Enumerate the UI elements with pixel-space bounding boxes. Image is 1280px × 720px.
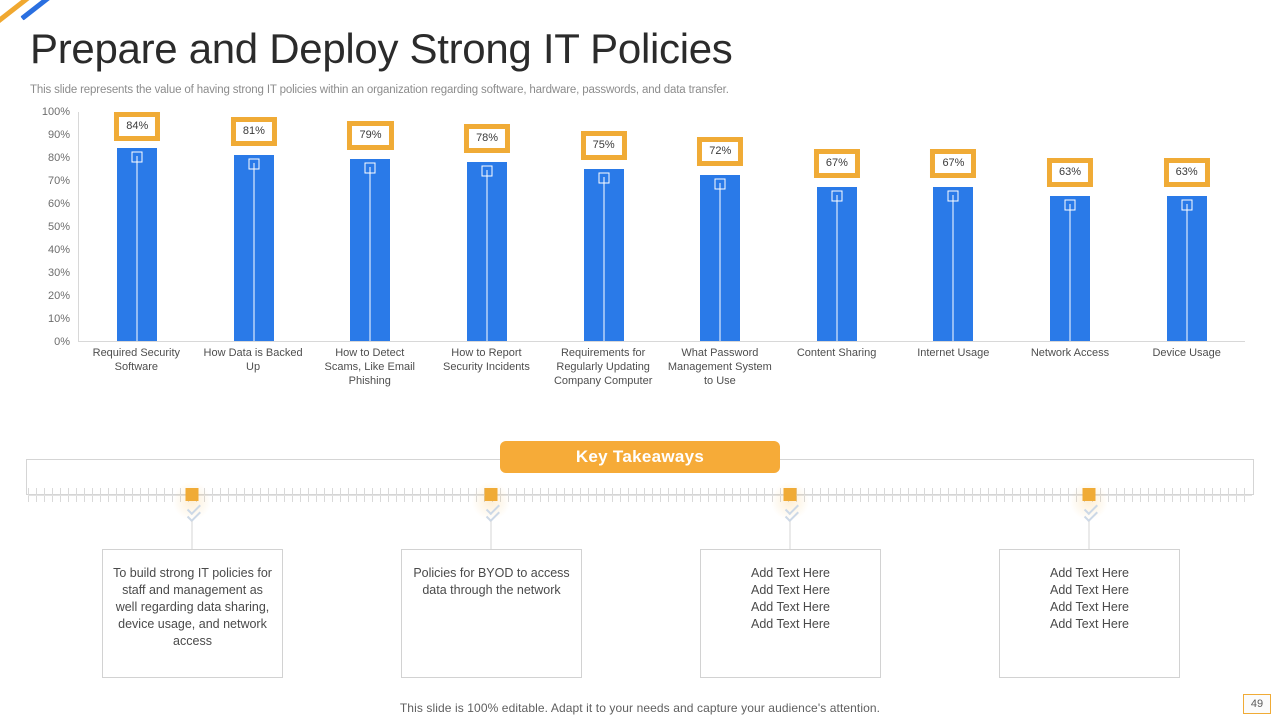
- chevron-down-icon: [179, 500, 205, 522]
- timeline-ruler: [28, 486, 1252, 504]
- y-axis-tick: 80%: [26, 152, 70, 164]
- footer-note: This slide is 100% editable. Adapt it to…: [0, 701, 1280, 715]
- chevron-down-icon: [1076, 500, 1102, 522]
- page-number-badge: 49: [1243, 694, 1271, 714]
- chart-bar-group: 79%: [312, 112, 429, 341]
- timeline-connector-line: [790, 521, 791, 549]
- page-title: Prepare and Deploy Strong IT Policies: [30, 24, 733, 74]
- takeaway-text-box-4[interactable]: Add Text Here Add Text Here Add Text Her…: [999, 549, 1180, 678]
- chart-bars: 84%81%79%78%75%72%67%67%63%63%: [79, 112, 1245, 341]
- bar-leader-line: [836, 195, 837, 341]
- page-subtitle: This slide represents the value of havin…: [30, 84, 729, 96]
- y-axis-tick: 20%: [26, 290, 70, 302]
- bar-value-marker: [715, 179, 726, 190]
- chart-bar-group: 63%: [1012, 112, 1129, 341]
- bar-data-label: 72%: [697, 137, 743, 166]
- x-axis-label: How to Detect Scams, Like Email Phishing: [311, 346, 428, 388]
- y-axis-tick: 0%: [26, 336, 70, 348]
- takeaway-text-box-1[interactable]: To build strong IT policies for staff an…: [102, 549, 283, 678]
- y-axis-tick: 70%: [26, 175, 70, 187]
- chevron-down-icon: [777, 500, 803, 522]
- chart-bar-group: 84%: [79, 112, 196, 341]
- ruler-baseline: [28, 495, 1252, 496]
- bar-leader-line: [953, 195, 954, 341]
- chart-bar-group: 78%: [429, 112, 546, 341]
- takeaway-text: To build strong IT policies for staff an…: [113, 565, 273, 650]
- slide-canvas: Prepare and Deploy Strong IT Policies Th…: [0, 0, 1280, 720]
- chevron-down-icon: [478, 500, 504, 522]
- chart-x-axis-labels: Required Security SoftwareHow Data is Ba…: [78, 346, 1245, 388]
- bar-value-marker: [831, 190, 842, 201]
- bar-data-label: 67%: [930, 149, 976, 178]
- x-axis-label: Device Usage: [1128, 346, 1245, 388]
- bar-data-label: 84%: [114, 112, 160, 141]
- timeline-connector-line: [1089, 521, 1090, 549]
- bar-data-label: 75%: [581, 131, 627, 160]
- x-axis-label: Internet Usage: [895, 346, 1012, 388]
- bar-leader-line: [1186, 204, 1187, 341]
- bar-value-marker: [482, 165, 493, 176]
- x-axis-label: Required Security Software: [78, 346, 195, 388]
- y-axis-tick: 50%: [26, 221, 70, 233]
- chart-bar-group: 63%: [1128, 112, 1245, 341]
- takeaway-text: Add Text Here Add Text Here Add Text Her…: [1050, 565, 1129, 633]
- takeaway-text-box-2[interactable]: Policies for BYOD to access data through…: [401, 549, 582, 678]
- y-axis-tick: 60%: [26, 198, 70, 210]
- x-axis-label: Network Access: [1012, 346, 1129, 388]
- bar-leader-line: [370, 167, 371, 341]
- bar-value-marker: [132, 151, 143, 162]
- y-axis-tick: 10%: [26, 313, 70, 325]
- bar-leader-line: [1070, 204, 1071, 341]
- key-takeaways-banner: Key Takeaways: [500, 441, 780, 473]
- bar-data-label: 63%: [1047, 158, 1093, 187]
- bar-data-label: 78%: [464, 124, 510, 153]
- y-axis-tick: 100%: [26, 106, 70, 118]
- bar-leader-line: [137, 156, 138, 341]
- x-axis-label: Content Sharing: [778, 346, 895, 388]
- chart-bar-group: 81%: [196, 112, 313, 341]
- bar-data-label: 63%: [1164, 158, 1210, 187]
- chart-bar-group: 67%: [779, 112, 896, 341]
- x-axis-label: How Data is Backed Up: [195, 346, 312, 388]
- bar-data-label: 81%: [231, 117, 277, 146]
- chart-bar-group: 75%: [545, 112, 662, 341]
- takeaway-text-box-3[interactable]: Add Text Here Add Text Here Add Text Her…: [700, 549, 881, 678]
- y-axis-tick: 40%: [26, 244, 70, 256]
- bar-leader-line: [720, 183, 721, 341]
- bar-leader-line: [603, 177, 604, 342]
- bar-value-marker: [1181, 200, 1192, 211]
- chart-bar-group: 72%: [662, 112, 779, 341]
- x-axis-label: How to Report Security Incidents: [428, 346, 545, 388]
- chart-bar-group: 67%: [895, 112, 1012, 341]
- bar-value-marker: [598, 172, 609, 183]
- bar-leader-line: [253, 163, 254, 341]
- bar-data-label: 67%: [814, 149, 860, 178]
- bar-value-marker: [1065, 200, 1076, 211]
- x-axis-label: Requirements for Regularly Updating Comp…: [545, 346, 662, 388]
- decoration-stripe-blue: [20, 0, 55, 20]
- bar-leader-line: [487, 170, 488, 341]
- bar-value-marker: [248, 158, 259, 169]
- takeaway-text: Add Text Here Add Text Here Add Text Her…: [751, 565, 830, 633]
- timeline-connector-line: [192, 521, 193, 549]
- bar-value-marker: [948, 190, 959, 201]
- y-axis-tick: 30%: [26, 267, 70, 279]
- bar-chart: 0%10%20%30%40%50%60%70%80%90%100% 84%81%…: [30, 112, 1245, 397]
- y-axis-tick: 90%: [26, 129, 70, 141]
- takeaway-text: Policies for BYOD to access data through…: [412, 565, 572, 599]
- timeline-connector-line: [491, 521, 492, 549]
- chart-plot-area: 84%81%79%78%75%72%67%67%63%63%: [78, 112, 1245, 342]
- chart-y-axis: 0%10%20%30%40%50%60%70%80%90%100%: [30, 112, 76, 342]
- x-axis-label: What Password Management System to Use: [662, 346, 779, 388]
- bar-data-label: 79%: [347, 121, 393, 150]
- bar-value-marker: [365, 163, 376, 174]
